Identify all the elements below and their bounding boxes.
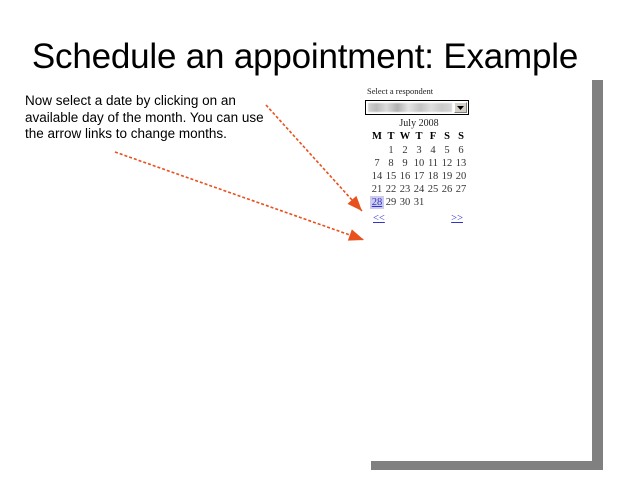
calendar-body: 1234567891011121314151617181920212223242… [370,144,468,209]
calendar-week-row: 28293031 [370,196,468,209]
calendar-day: 10 [412,157,426,170]
calendar-day: 27 [454,183,468,196]
calendar-day: 6 [454,144,468,157]
calendar-day: 24 [412,183,426,196]
calendar-day: 16 [398,170,412,183]
calendar-day: 25 [426,183,440,196]
arrow-head [348,229,364,240]
calendar-day-empty [454,196,468,209]
weekday-header-mon: M [370,130,384,144]
respondent-select[interactable] [365,100,469,115]
weekday-header-sat: S [440,130,454,144]
weekday-header-sun: S [454,130,468,144]
calendar-day: 29 [384,196,398,209]
calendar-day: 18 [426,170,440,183]
calendar-day: 31 [412,196,426,209]
calendar-day-link[interactable]: 28 [372,197,383,208]
calendar-day: 30 [398,196,412,209]
calendar-table: M T W T F S S 12345678910111213141516171… [370,130,468,209]
calendar-day-empty [370,144,384,157]
slide-shadow-bottom [371,461,602,470]
calendar-day-empty [426,196,440,209]
calendar-day: 19 [440,170,454,183]
calendar-day-empty [440,196,454,209]
respondent-label: Select a respondent [367,86,473,97]
calendar-day: 3 [412,144,426,157]
slide-shadow-right [592,80,603,470]
weekday-header-fri: F [426,130,440,144]
weekday-header-thu: T [412,130,426,144]
calendar-day: 26 [440,183,454,196]
calendar-week-row: 78910111213 [370,157,468,170]
calendar-day: 7 [370,157,384,170]
page-title: Schedule an appointment: Example [0,36,610,78]
chevron-down-icon[interactable] [454,102,467,113]
weekday-header-wed: W [398,130,412,144]
calendar-day: 23 [398,183,412,196]
arrow-to-nav-links [115,152,364,241]
calendar-week-row: 21222324252627 [370,183,468,196]
calendar-day: 12 [440,157,454,170]
calendar-day: 13 [454,157,468,170]
arrow-to-dates [266,105,362,211]
calendar-day: 1 [384,144,398,157]
calendar-day: 4 [426,144,440,157]
calendar-day: 17 [412,170,426,183]
calendar-day-selected[interactable]: 28 [370,196,384,209]
calendar-day: 9 [398,157,412,170]
arrow-head [347,196,362,211]
calendar-day: 14 [370,170,384,183]
prev-month-link[interactable]: << [373,212,385,225]
calendar-week-row: 123456 [370,144,468,157]
calendar-week-row: 14151617181920 [370,170,468,183]
next-month-link[interactable]: >> [451,212,463,225]
slide-canvas: Schedule an appointment: Example Now sel… [0,0,640,480]
calendar-day: 11 [426,157,440,170]
weekday-header-tue: T [384,130,398,144]
calendar-month-title: July 2008 [365,117,473,130]
calendar-day: 5 [440,144,454,157]
calendar-widget: Select a respondent July 2008 M T W T F … [365,86,473,225]
calendar-day: 22 [384,183,398,196]
calendar-day: 21 [370,183,384,196]
calendar-nav: << >> [365,212,469,225]
calendar-day: 20 [454,170,468,183]
calendar-day: 15 [384,170,398,183]
calendar-day: 2 [398,144,412,157]
respondent-selected-value [368,103,452,112]
instruction-text: Now select a date by clicking on an avai… [25,93,265,143]
calendar-day: 8 [384,157,398,170]
calendar-header-row: M T W T F S S [370,130,468,144]
